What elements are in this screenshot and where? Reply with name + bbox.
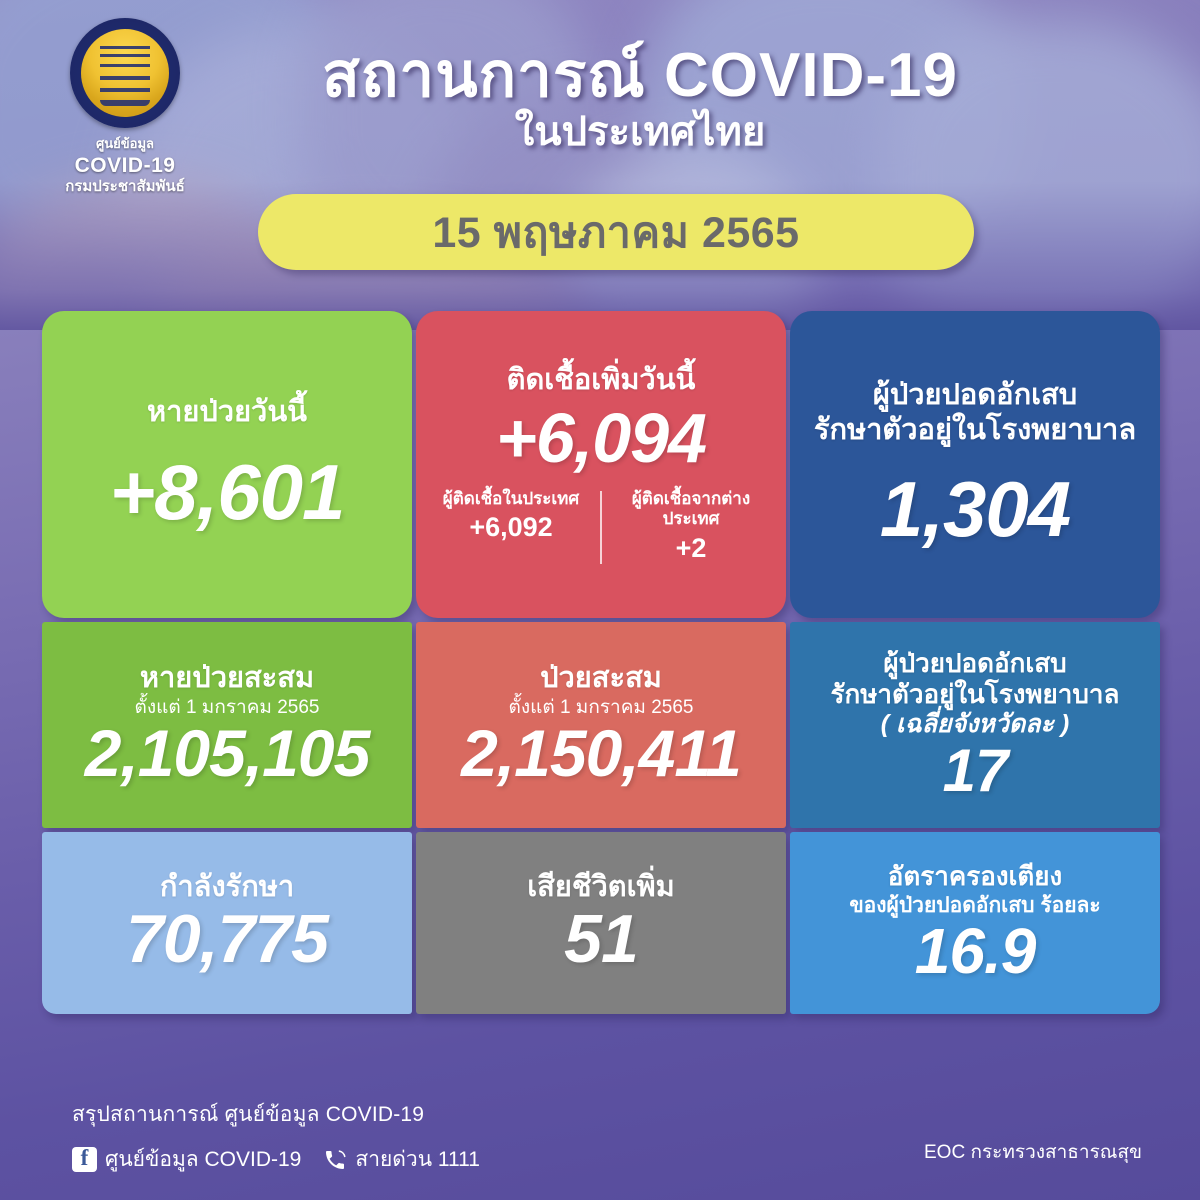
stat-card-recovered-cumulative: หายป่วยสะสม ตั้งแต่ 1 มกราคม 2565 2,105,… — [42, 622, 412, 828]
stat-value: 17 — [943, 739, 1008, 802]
poster-footer: สรุปสถานการณ์ ศูนย์ข้อมูล COVID-19 ศูนย์… — [0, 1090, 1200, 1200]
stat-value: 51 — [564, 904, 638, 975]
footer-source-text: EOC กระทรวงสาธารณสุข — [924, 1137, 1142, 1167]
breakdown-value: +6,092 — [432, 511, 590, 545]
stat-value: 2,105,105 — [85, 719, 370, 788]
stat-value: +8,601 — [110, 452, 345, 534]
stat-card-pneumonia-in-hospital: ผู้ป่วยปอดอักเสบ รักษาตัวอยู่ในโรงพยาบาล… — [790, 311, 1160, 618]
stat-label-line2: รักษาตัวอยู่ในโรงพยาบาล — [831, 679, 1120, 710]
breakdown-value: +2 — [612, 532, 770, 566]
stat-label: หายป่วยวันนี้ — [147, 395, 307, 429]
breakdown-label: ผู้ติดเชื้อจากต่างประเทศ — [612, 489, 770, 530]
stat-breakdown: ผู้ติดเชื้อในประเทศ +6,092 ผู้ติดเชื้อจา… — [426, 489, 776, 566]
brand-line-1: ศูนย์ข้อมูล — [40, 133, 210, 154]
breakdown-label: ผู้ติดเชื้อในประเทศ — [432, 489, 590, 509]
page-subtitle: ในประเทศไทย — [240, 110, 1040, 154]
breakdown-imported: ผู้ติดเชื้อจากต่างประเทศ +2 — [606, 489, 776, 566]
footer-facebook-text[interactable]: ศูนย์ข้อมูล COVID-19 — [105, 1143, 301, 1176]
stat-card-pneumonia-avg-per-province: ผู้ป่วยปอดอักเสบ รักษาตัวอยู่ในโรงพยาบาล… — [790, 622, 1160, 828]
stat-label: เสียชีวิตเพิ่ม — [527, 870, 675, 904]
stat-card-bed-occupancy-rate: อัตราครองเตียง ของผู้ป่วยปอดอักเสบ ร้อยล… — [790, 832, 1160, 1014]
covid-infographic-poster: ศูนย์ข้อมูล COVID-19 กรมประชาสัมพันธ์ สถ… — [0, 0, 1200, 1200]
stat-label: หายป่วยสะสม — [140, 661, 314, 695]
brand-line-3: กรมประชาสัมพันธ์ — [40, 178, 210, 196]
stat-value: 70,775 — [126, 904, 328, 975]
breakdown-domestic: ผู้ติดเชื้อในประเทศ +6,092 — [426, 489, 596, 566]
stat-label: ป่วยสะสม — [540, 661, 662, 695]
thai-garuda-seal-icon — [70, 18, 180, 128]
stat-label-line2: รักษาตัวอยู่ในโรงพยาบาล — [814, 413, 1136, 447]
stat-value: 1,304 — [880, 469, 1070, 551]
stat-label: กำลังรักษา — [160, 870, 294, 904]
stat-paren-note: ( เฉลี่ยจังหวัดละ ) — [881, 709, 1069, 739]
stat-value: 2,150,411 — [461, 719, 741, 788]
page-title: สถานการณ์ COVID-19 — [240, 44, 1040, 108]
stat-label-line1: ผู้ป่วยปอดอักเสบ — [873, 378, 1077, 412]
brand-line-2: COVID-19 — [40, 154, 210, 178]
footer-left-block: สรุปสถานการณ์ ศูนย์ข้อมูล COVID-19 ศูนย์… — [72, 1098, 480, 1176]
stat-value: +6,094 — [496, 402, 706, 476]
stat-label-line1: อัตราครองเตียง — [888, 861, 1062, 892]
title-block: สถานการณ์ COVID-19 ในประเทศไทย — [240, 44, 1040, 154]
date-badge-label: 15 พฤษภาคม 2565 — [432, 198, 799, 266]
poster-header: ศูนย์ข้อมูล COVID-19 กรมประชาสัมพันธ์ สถ… — [0, 0, 1200, 300]
stat-label-line1: ผู้ป่วยปอดอักเสบ — [883, 648, 1066, 679]
stat-card-recovered-today: หายป่วยวันนี้ +8,601 — [42, 311, 412, 618]
footer-summary-text: สรุปสถานการณ์ ศูนย์ข้อมูล COVID-19 — [72, 1098, 480, 1131]
stat-label: ติดเชื้อเพิ่มวันนี้ — [507, 363, 696, 397]
brand-logo-block: ศูนย์ข้อมูล COVID-19 กรมประชาสัมพันธ์ — [40, 18, 210, 196]
facebook-icon[interactable] — [72, 1147, 97, 1172]
footer-hotline-text: สายด่วน 1111 — [355, 1143, 480, 1176]
stat-card-currently-treating: กำลังรักษา 70,775 — [42, 832, 412, 1014]
date-badge: 15 พฤษภาคม 2565 — [258, 194, 974, 270]
stats-grid: หายป่วยวันนี้ +8,601 ติดเชื้อเพิ่มวันนี้… — [42, 311, 1160, 1014]
stat-card-new-cases-today: ติดเชื้อเพิ่มวันนี้ +6,094 ผู้ติดเชื้อใน… — [416, 311, 786, 618]
stat-card-deaths-today: เสียชีวิตเพิ่ม 51 — [416, 832, 786, 1014]
breakdown-divider — [600, 491, 602, 564]
phone-icon — [323, 1148, 347, 1172]
stat-card-cases-cumulative: ป่วยสะสม ตั้งแต่ 1 มกราคม 2565 2,150,411 — [416, 622, 786, 828]
stat-value: 16.9 — [915, 918, 1036, 985]
